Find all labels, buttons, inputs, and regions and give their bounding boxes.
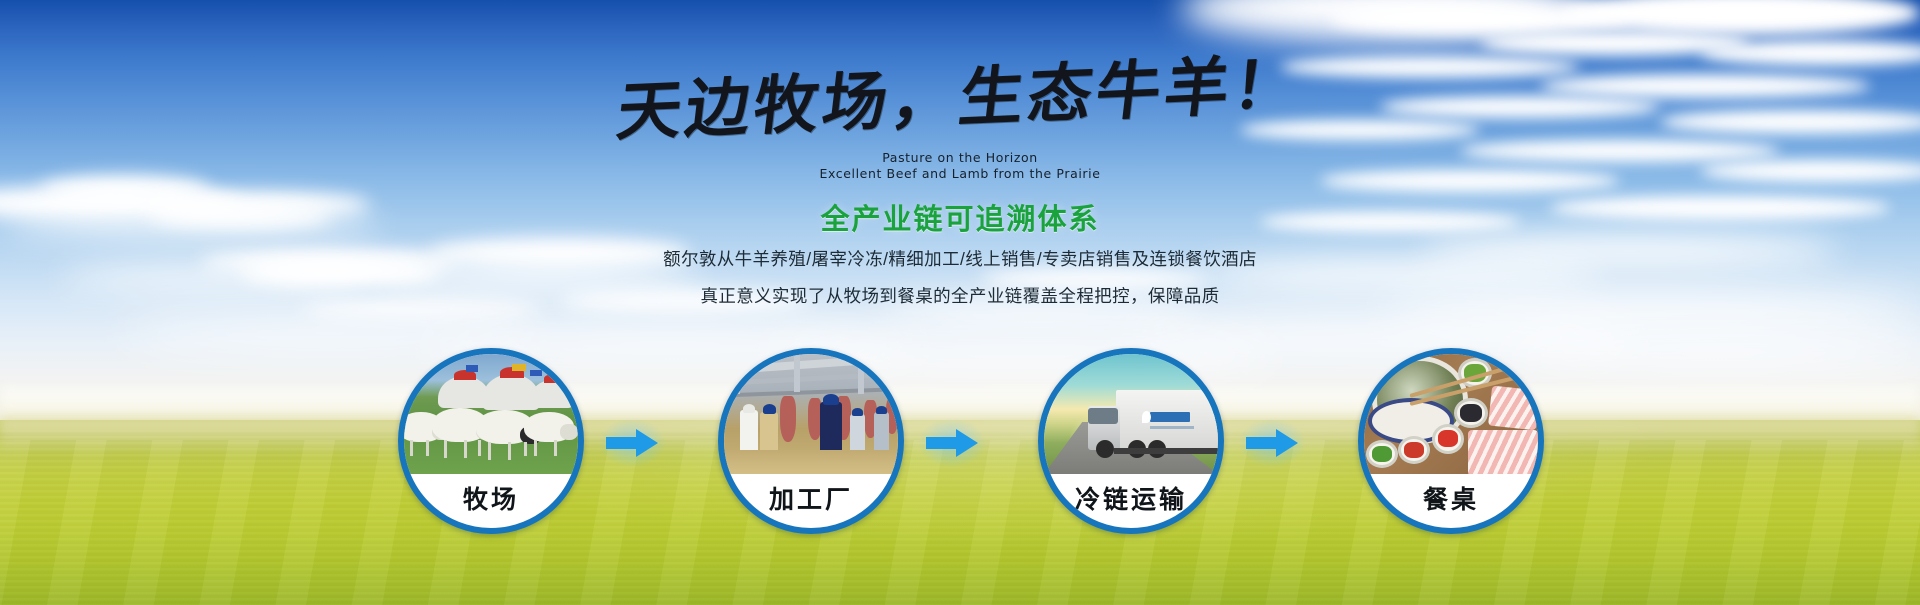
cloud — [1660, 110, 1920, 134]
brand-calligraphy-text: 天边牧场，生态牛羊！ — [633, 35, 1287, 152]
pasture-photo — [404, 354, 578, 474]
flow-node-ring: 加工厂 — [718, 348, 904, 534]
page-title: 全产业链可追溯体系 — [0, 196, 1920, 238]
flow-node-label: 牧场 — [404, 480, 578, 516]
flow-arrow-1 — [604, 426, 660, 460]
english-subtitle-line2: Excellent Beef and Lamb from the Prairie — [760, 166, 1160, 181]
flow-node-ring: 餐桌 — [1358, 348, 1544, 534]
flow-node-dining-table[interactable]: 餐桌 — [1358, 348, 1544, 534]
flow-node-processing-plant[interactable]: 加工厂 — [718, 348, 904, 534]
description-line-1: 额尔敦从牛羊养殖/屠宰冷冻/精细加工/线上销售/专卖店销售及连锁餐饮酒店 — [0, 246, 1920, 271]
cloud — [1380, 96, 1660, 118]
promo-banner: 天边牧场，生态牛羊！ Pasture on the Horizon Excell… — [0, 0, 1920, 605]
flow-arrow-3 — [1244, 426, 1300, 460]
arrow-right-icon — [1244, 426, 1300, 460]
arrow-right-icon — [604, 426, 660, 460]
cloud — [1540, 74, 1870, 98]
flow-node-ring: 牧场 — [398, 348, 584, 534]
flow-arrow-2 — [924, 426, 980, 460]
processing-plant-photo — [724, 354, 898, 474]
flow-node-label: 冷链运输 — [1044, 480, 1218, 516]
dining-table-photo — [1364, 354, 1538, 474]
cloud — [1280, 56, 1580, 78]
flow-node-pasture[interactable]: 牧场 — [398, 348, 584, 534]
cold-chain-truck-photo — [1044, 354, 1218, 474]
cloud — [1320, 170, 1620, 192]
english-subtitle: Pasture on the Horizon Excellent Beef an… — [760, 150, 1160, 181]
arrow-right-icon — [924, 426, 980, 460]
flow-node-label: 餐桌 — [1364, 480, 1538, 516]
flow-node-cold-chain-transport[interactable]: 冷链运输 — [1038, 348, 1224, 534]
cloud — [1460, 140, 1780, 162]
flow-node-ring: 冷链运输 — [1038, 348, 1224, 534]
supply-chain-flow: 牧场 — [0, 348, 1920, 538]
flow-node-label: 加工厂 — [724, 480, 898, 516]
description-line-2: 真正意义实现了从牧场到餐桌的全产业链覆盖全程把控，保障品质 — [0, 283, 1920, 308]
english-subtitle-line1: Pasture on the Horizon — [760, 150, 1160, 165]
brand-calligraphy: 天边牧场，生态牛羊！ — [640, 48, 1280, 138]
